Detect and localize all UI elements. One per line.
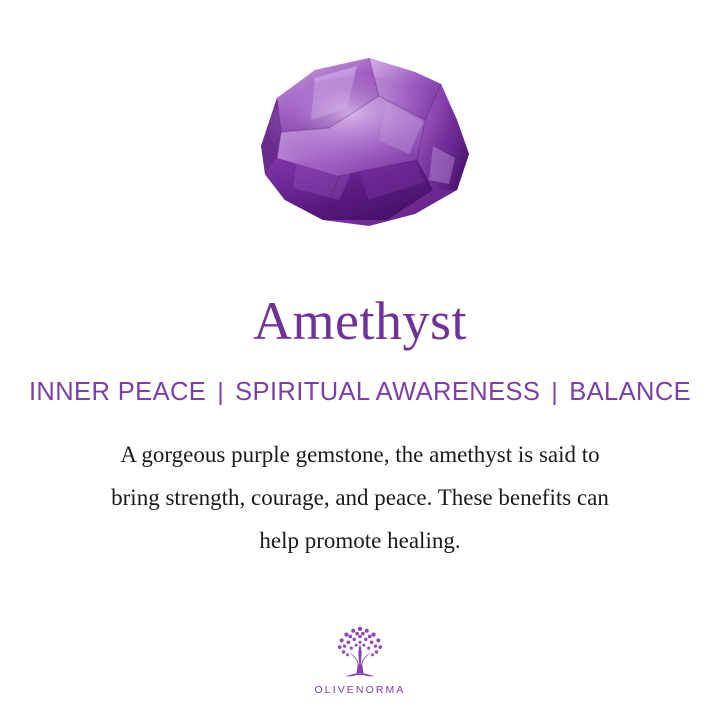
description-line-3: help promote healing. [40,519,680,562]
keyword-list: INNER PEACE | SPIRITUAL AWARENESS | BALA… [29,378,691,407]
description-text: A gorgeous purple gemstone, the amethyst… [40,433,680,562]
product-info-card: Amethyst INNER PEACE | SPIRITUAL AWARENE… [0,0,720,720]
gemstone-image-area [0,0,720,290]
amethyst-crystal-icon [219,50,509,250]
description-line-1: A gorgeous purple gemstone, the amethyst… [40,433,680,476]
keyword-inner-peace: INNER PEACE [29,378,206,407]
keyword-separator: | [206,378,235,407]
keyword-spiritual-awareness: SPIRITUAL AWARENESS [235,378,540,407]
brand-logo: OLIVENORMA [0,623,720,696]
description-line-2: bring strength, courage, and peace. Thes… [40,476,680,519]
amethyst-gemstone-image [219,50,509,250]
keyword-balance: BALANCE [569,378,691,407]
keyword-separator: | [540,378,569,407]
tree-of-life-icon [331,623,389,679]
brand-name: OLIVENORMA [314,684,405,696]
page-title: Amethyst [253,294,467,348]
